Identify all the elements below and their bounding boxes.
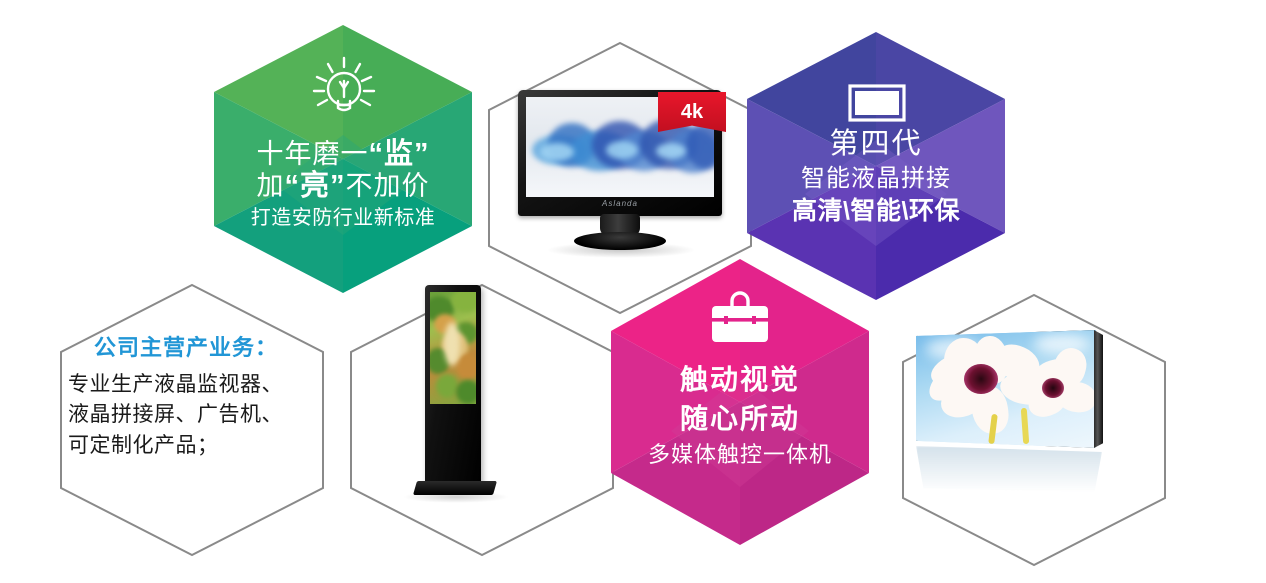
green-slogan-line-3: 打造安防行业新标准 — [214, 207, 472, 229]
business-scope-title: 公司主营产业务： — [68, 330, 318, 362]
toolbox-icon — [709, 292, 771, 346]
green-slogan-block: 十年磨一“监” 加“亮”不加价 打造安防行业新标准 — [214, 138, 472, 229]
kiosk-screen — [430, 292, 476, 404]
green-slogan-line-1: 十年磨一“监” — [214, 138, 472, 170]
monitor-brand-label: Aslanda — [518, 199, 722, 208]
kiosk-cabinet — [425, 285, 481, 487]
lightbulb-icon — [309, 57, 379, 123]
business-scope-line-3: 可定制化产品； — [68, 431, 318, 461]
purple-slogan-line-3: 高清\智能\环保 — [747, 197, 1005, 225]
display-panel-icon — [848, 84, 906, 122]
video-wall-screen — [916, 330, 1096, 448]
monitor-bezel: Aslanda 4k — [518, 90, 722, 216]
pink-slogan-line-2: 随心所动 — [611, 403, 869, 434]
video-wall-reflection — [916, 446, 1102, 492]
pink-slogan-block: 触动视觉 随心所动 多媒体触控一体机 — [611, 364, 869, 467]
purple-slogan-block: 第四代 智能液晶拼接 高清\智能\环保 — [747, 128, 1005, 225]
hexagon-outline-shape — [351, 285, 613, 555]
pink-slogan-line-1: 触动视觉 — [611, 364, 869, 395]
business-scope-line-1: 专业生产液晶监视器、 — [68, 370, 318, 400]
monitor-stand-base — [574, 232, 666, 250]
kiosk-base — [413, 481, 497, 495]
pink-slogan-line-3: 多媒体触控一体机 — [611, 443, 869, 468]
green-slogan-line-2: 加“亮”不加价 — [214, 170, 472, 202]
purple-slogan-line-2: 智能液晶拼接 — [747, 166, 1005, 193]
video-wall-side-edge — [1094, 330, 1103, 448]
hex-outline-kiosk[interactable] — [348, 282, 616, 558]
business-scope-block: 公司主营产业务： 专业生产液晶监视器、 液晶拼接屏、广告机、 可定制化产品； — [68, 330, 318, 461]
infographic-canvas: 公司主营产业务： 专业生产液晶监视器、 液晶拼接屏、广告机、 可定制化产品； — [0, 0, 1266, 583]
business-scope-line-2: 液晶拼接屏、广告机、 — [68, 400, 318, 430]
purple-slogan-line-1: 第四代 — [747, 128, 1005, 160]
